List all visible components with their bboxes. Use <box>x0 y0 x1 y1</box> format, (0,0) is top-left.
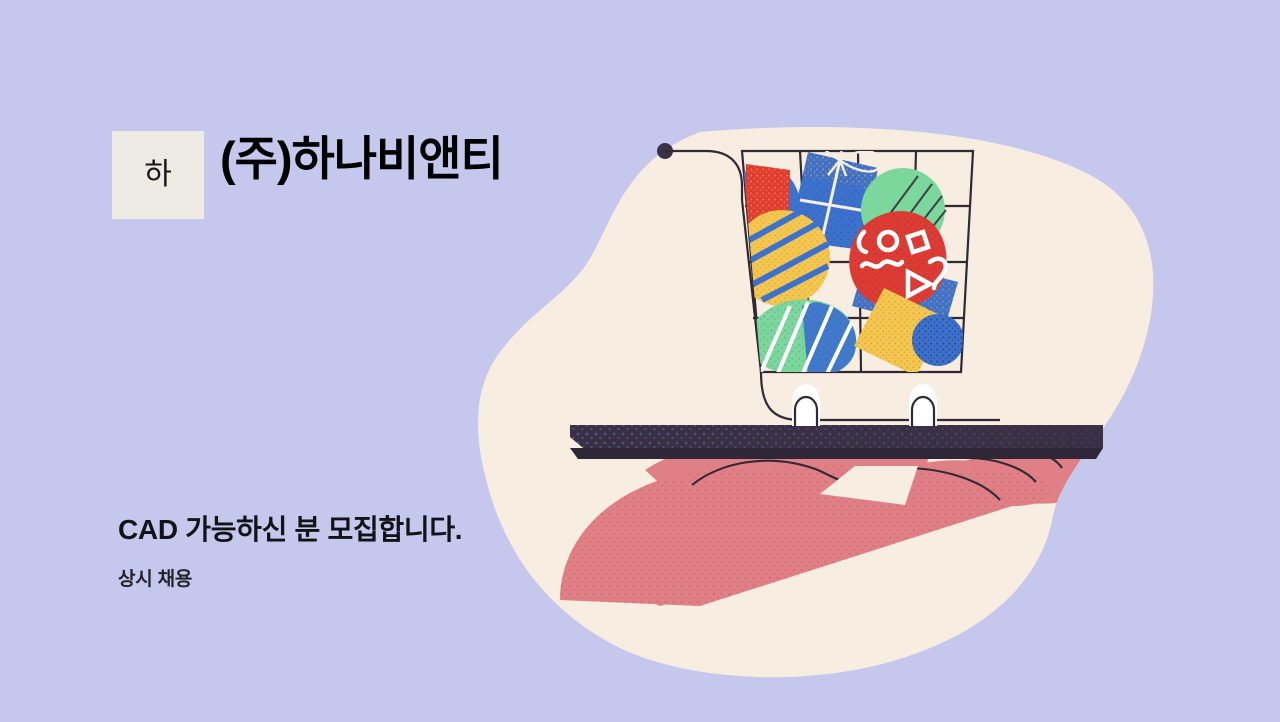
cart-items <box>734 126 964 380</box>
cart-wheels <box>792 384 937 426</box>
background-blob <box>478 127 1153 677</box>
job-copy: CAD 가능하신 분 모집합니다. 상시 채용 <box>118 512 462 592</box>
hand-illustration <box>560 437 1139 606</box>
company-name: (주)하나비앤티 <box>220 135 503 182</box>
job-posting-banner: 하 (주)하나비앤티 CAD 가능하신 분 모집합니다. 상시 채용 <box>0 0 1280 722</box>
avatar-initial: 하 <box>144 160 172 190</box>
shelf-bar <box>570 425 1103 459</box>
recruitment-type: 상시 채용 <box>118 569 462 592</box>
job-title: CAD 가능하신 분 모집합니다. <box>118 512 462 547</box>
avatar: 하 <box>112 131 204 219</box>
shopping-cart-illustration <box>0 0 1280 722</box>
company-header: 하 (주)하나비앤티 <box>112 131 503 219</box>
shopping-cart <box>657 143 1000 420</box>
